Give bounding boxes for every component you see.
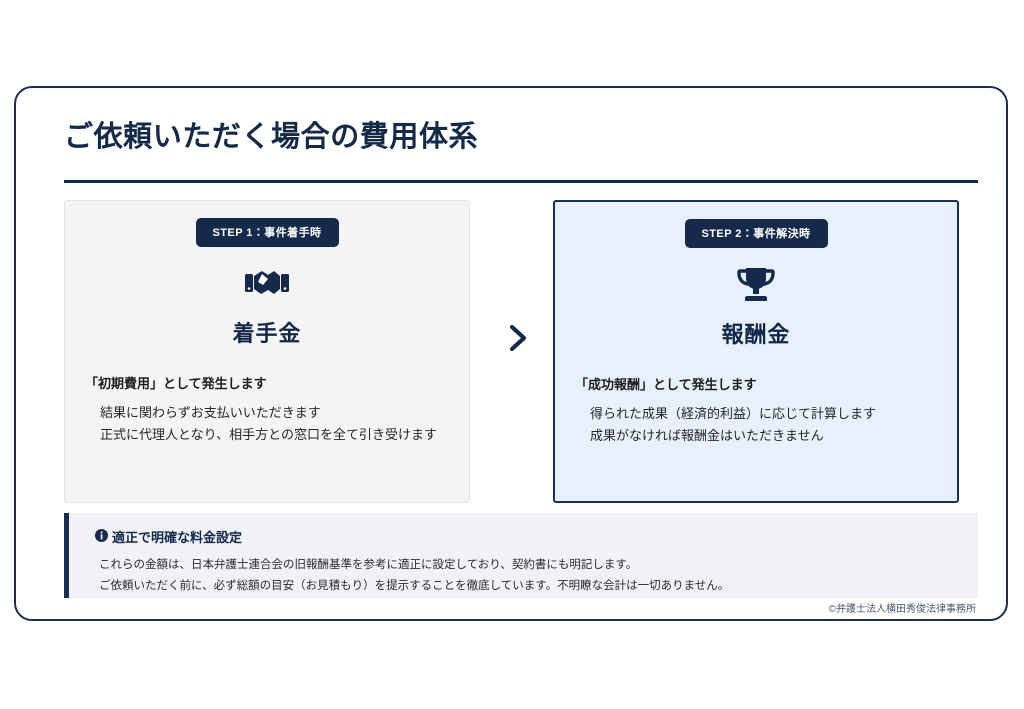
trophy-icon: [555, 263, 957, 307]
handshake-icon: [65, 262, 469, 306]
note-line: ご依頼いただく前に、必ず総額の目安（お見積もり）を提示することを徹底しています。…: [99, 576, 978, 597]
step-body-2: 「成功報酬」として発生します 得られた成果（経済的利益）に応じて計算します 成果…: [555, 375, 957, 448]
step-body-1: 「初期費用」として発生します 結果に関わらずお支払いいただきます 正式に代理人と…: [65, 374, 469, 447]
note-lines: これらの金額は、日本弁護士連合会の旧報酬基準を参考に適正に設定しており、契約書に…: [99, 555, 978, 598]
step-heading-2: 報酬金: [555, 317, 957, 349]
chevron-right-icon: [504, 322, 532, 354]
info-icon: [95, 529, 108, 545]
step-card-1[interactable]: STEP 1：事件着手時 着手金 「初期費用」として発生します 結果に関わらずお…: [64, 200, 470, 503]
slide-frame: ご依頼いただく場合の費用体系 STEP 1：事件着手時 着手金: [14, 86, 1008, 621]
list-item: 結果に関わらずお支払いいただきます: [85, 402, 451, 425]
step-points-2: 得られた成果（経済的利益）に応じて計算します 成果がなければ報酬金はいただきませ…: [575, 403, 939, 448]
steps-container: STEP 1：事件着手時 着手金 「初期費用」として発生します 結果に関わらずお…: [64, 200, 978, 503]
step-card-2[interactable]: STEP 2：事件解決時 報酬金 「成功報酬」として発生します 得られた成果（経…: [553, 200, 959, 503]
step-points-1: 結果に関わらずお支払いいただきます 正式に代理人となり、相手方との窓口を全て引き…: [85, 402, 451, 447]
list-item: 正式に代理人となり、相手方との窓口を全て引き受けます: [85, 424, 451, 447]
note-panel: 適正で明確な料金設定 これらの金額は、日本弁護士連合会の旧報酬基準を参考に適正に…: [64, 513, 978, 598]
step-heading-1: 着手金: [65, 316, 469, 348]
step-badge-row-1: STEP 1：事件着手時: [65, 218, 469, 247]
step-lead-1: 「初期費用」として発生します: [85, 374, 451, 394]
copyright: ©弁護士法人横田秀俊法律事務所: [829, 600, 976, 615]
list-item: 成果がなければ報酬金はいただきません: [575, 425, 939, 448]
step-badge-row-2: STEP 2：事件解決時: [555, 219, 957, 248]
page-title: ご依頼いただく場合の費用体系: [64, 113, 478, 155]
list-item: 得られた成果（経済的利益）に応じて計算します: [575, 403, 939, 426]
note-title: 適正で明確な料金設定: [112, 527, 242, 546]
title-divider: [64, 180, 978, 183]
note-line: これらの金額は、日本弁護士連合会の旧報酬基準を参考に適正に設定しており、契約書に…: [99, 555, 978, 576]
note-title-row: 適正で明確な料金設定: [95, 527, 978, 546]
step-badge-1: STEP 1：事件着手時: [196, 218, 339, 247]
step-lead-2: 「成功報酬」として発生します: [575, 375, 939, 395]
step-badge-2: STEP 2：事件解決時: [685, 219, 828, 248]
